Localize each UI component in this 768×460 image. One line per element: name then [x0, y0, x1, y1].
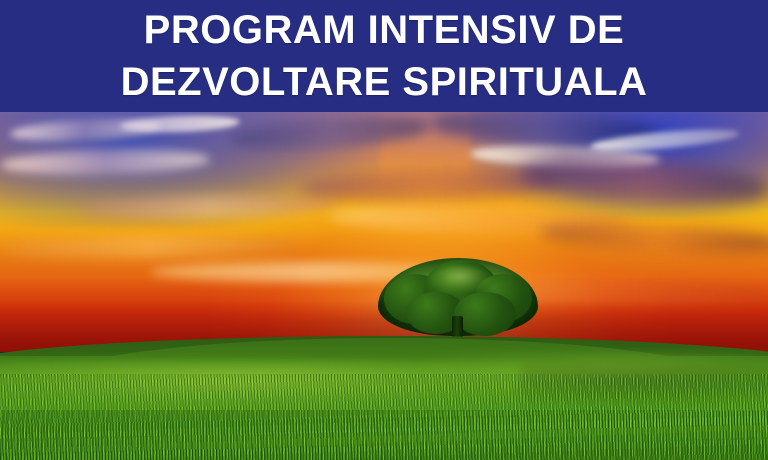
tree-canopy-highlight	[428, 266, 492, 292]
title-line-2: DEZVOLTARE SPIRITUALA	[121, 62, 648, 102]
landscape-ground	[0, 330, 768, 460]
foreground-grass-blades-dense	[0, 410, 768, 460]
poster: PROGRAM INTENSIV DE DEZVOLTARE SPIRITUAL…	[0, 0, 768, 460]
title-line-1: PROGRAM INTENSIV DE	[144, 10, 625, 50]
title-banner: PROGRAM INTENSIV DE DEZVOLTARE SPIRITUAL…	[0, 0, 768, 112]
